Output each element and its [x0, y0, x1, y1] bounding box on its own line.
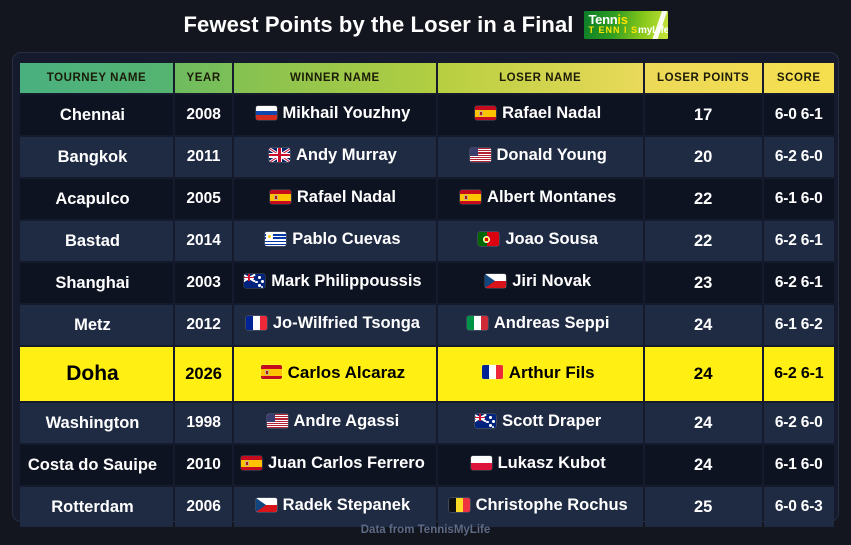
winner-name-wrapper: Mikhail Youzhny	[256, 105, 411, 122]
loser-name-wrapper: Lukasz Kubot	[471, 455, 606, 472]
cell-loser-name: Albert Montanes	[438, 179, 643, 219]
cell-tourney-name: Costa do Sauipe	[20, 445, 173, 485]
cell-score: 6-1 6-2	[764, 305, 834, 345]
flag-icon-cz	[485, 274, 506, 288]
loser-name-wrapper: Donald Young	[470, 147, 607, 164]
cell-tourney-name: Chennai	[20, 95, 173, 135]
table-header: TOURNEY NAME YEAR WINNER NAME LOSER NAME…	[20, 63, 834, 93]
cell-loser-points: 24	[645, 305, 762, 345]
cell-score: 6-2 6-1	[764, 221, 834, 261]
cell-tourney-name: Acapulco	[20, 179, 173, 219]
cell-loser-name: Christophe Rochus	[438, 487, 643, 527]
cell-year: 2012	[175, 305, 232, 345]
flag-icon-es	[475, 106, 496, 120]
loser-name: Donald Young	[497, 147, 607, 164]
cell-loser-points: 23	[645, 263, 762, 303]
cell-score: 6-0 6-1	[764, 95, 834, 135]
loser-name: Rafael Nadal	[502, 105, 601, 122]
cell-year: 2003	[175, 263, 232, 303]
loser-name: Andreas Seppi	[494, 315, 610, 332]
winner-name: Andy Murray	[296, 147, 397, 164]
cell-tourney-name: Bastad	[20, 221, 173, 261]
loser-name-wrapper: Scott Draper	[475, 413, 601, 430]
winner-name: Carlos Alcaraz	[288, 364, 405, 381]
cell-tourney-name: Shanghai	[20, 263, 173, 303]
cell-year: 2005	[175, 179, 232, 219]
cell-tourney-name: Metz	[20, 305, 173, 345]
flag-icon-es	[261, 365, 282, 379]
winner-name-wrapper: Juan Carlos Ferrero	[241, 455, 425, 472]
flag-icon-au	[475, 414, 496, 428]
winner-name: Rafael Nadal	[297, 189, 396, 206]
flag-icon-it	[467, 316, 488, 330]
winner-name: Juan Carlos Ferrero	[268, 455, 425, 472]
column-header-tourney-name: TOURNEY NAME	[20, 63, 173, 93]
cell-year: 2026	[175, 347, 232, 401]
loser-name-wrapper: Albert Montanes	[460, 189, 616, 206]
winner-name: Radek Stepanek	[283, 497, 410, 514]
loser-name-wrapper: Andreas Seppi	[467, 315, 610, 332]
table-row[interactable]: Rotterdam2006Radek StepanekChristophe Ro…	[20, 487, 834, 527]
winner-name-wrapper: Rafael Nadal	[270, 189, 396, 206]
flag-icon-uy	[265, 232, 286, 246]
table-row[interactable]: Washington1998Andre AgassiScott Draper24…	[20, 403, 834, 443]
cell-loser-points: 24	[645, 445, 762, 485]
column-header-score: SCORE	[764, 63, 834, 93]
loser-name: Joao Sousa	[505, 231, 598, 248]
table-row[interactable]: Chennai2008Mikhail YouzhnyRafael Nadal17…	[20, 95, 834, 135]
cell-year: 2008	[175, 95, 232, 135]
table-body: Chennai2008Mikhail YouzhnyRafael Nadal17…	[20, 95, 834, 527]
flag-icon-pt	[478, 232, 499, 246]
cell-score: 6-1 6-0	[764, 179, 834, 219]
cell-tourney-name: Washington	[20, 403, 173, 443]
cell-loser-name: Donald Young	[438, 137, 643, 177]
cell-winner-name: Andre Agassi	[234, 403, 435, 443]
table-row[interactable]: Costa do Sauipe2010Juan Carlos FerreroLu…	[20, 445, 834, 485]
cell-loser-points: 24	[645, 403, 762, 443]
flag-icon-au	[244, 274, 265, 288]
loser-name-wrapper: Joao Sousa	[478, 231, 598, 248]
flag-icon-us	[470, 148, 491, 162]
cell-year: 2011	[175, 137, 232, 177]
cell-loser-points: 24	[645, 347, 762, 401]
loser-name-wrapper: Rafael Nadal	[475, 105, 601, 122]
flag-icon-es	[270, 190, 291, 204]
cell-tourney-name: Rotterdam	[20, 487, 173, 527]
cell-score: 6-1 6-0	[764, 445, 834, 485]
winner-name-wrapper: Carlos Alcaraz	[261, 364, 405, 381]
loser-name: Albert Montanes	[487, 189, 616, 206]
cell-tourney-name: Doha	[20, 347, 173, 401]
flag-icon-ru	[256, 106, 277, 120]
cell-winner-name: Mark Philippoussis	[234, 263, 435, 303]
cell-winner-name: Mikhail Youzhny	[234, 95, 435, 135]
loser-name-wrapper: Jiri Novak	[485, 273, 591, 290]
flag-icon-fr	[482, 365, 503, 379]
cell-loser-name: Lukasz Kubot	[438, 445, 643, 485]
cell-winner-name: Pablo Cuevas	[234, 221, 435, 261]
loser-name: Christophe Rochus	[476, 497, 628, 514]
cell-loser-points: 25	[645, 487, 762, 527]
cell-score: 6-0 6-3	[764, 487, 834, 527]
cell-year: 2010	[175, 445, 232, 485]
winner-name: Mikhail Youzhny	[283, 105, 411, 122]
tennis-my-life-logo: Tennis T ENN I SmyLife	[584, 11, 668, 39]
loser-name: Arthur Fils	[509, 364, 595, 381]
winner-name: Pablo Cuevas	[292, 231, 400, 248]
winner-name-wrapper: Andre Agassi	[267, 413, 400, 430]
cell-loser-points: 17	[645, 95, 762, 135]
column-header-loser-name: LOSER NAME	[438, 63, 643, 93]
table-row[interactable]: Acapulco2005Rafael NadalAlbert Montanes2…	[20, 179, 834, 219]
cell-loser-name: Jiri Novak	[438, 263, 643, 303]
logo-line-2-a: T ENN I S	[589, 25, 639, 35]
winner-name-wrapper: Pablo Cuevas	[265, 231, 400, 248]
infographic-page: Fewest Points by the Loser in a Final Te…	[0, 0, 851, 545]
table-row[interactable]: Bastad2014Pablo CuevasJoao Sousa226-2 6-…	[20, 221, 834, 261]
winner-name-wrapper: Andy Murray	[269, 147, 397, 164]
title-bar: Fewest Points by the Loser in a Final Te…	[0, 0, 851, 46]
loser-name-wrapper: Arthur Fils	[482, 364, 595, 381]
cell-year: 2006	[175, 487, 232, 527]
cell-loser-name: Rafael Nadal	[438, 95, 643, 135]
winner-name-wrapper: Jo-Wilfried Tsonga	[246, 315, 420, 332]
flag-icon-es	[241, 456, 262, 470]
cell-score: 6-2 6-0	[764, 403, 834, 443]
winner-name: Mark Philippoussis	[271, 273, 421, 290]
table-header-row: TOURNEY NAME YEAR WINNER NAME LOSER NAME…	[20, 63, 834, 93]
winner-name: Andre Agassi	[294, 413, 400, 430]
flag-icon-cz	[256, 498, 277, 512]
table-panel: TOURNEY NAME YEAR WINNER NAME LOSER NAME…	[12, 52, 839, 522]
winner-name: Jo-Wilfried Tsonga	[273, 315, 420, 332]
column-header-loser-points: LOSER POINTS	[645, 63, 762, 93]
cell-tourney-name: Bangkok	[20, 137, 173, 177]
cell-loser-points: 20	[645, 137, 762, 177]
cell-winner-name: Juan Carlos Ferrero	[234, 445, 435, 485]
cell-winner-name: Andy Murray	[234, 137, 435, 177]
loser-name-wrapper: Christophe Rochus	[449, 497, 628, 514]
cell-year: 1998	[175, 403, 232, 443]
cell-loser-points: 22	[645, 221, 762, 261]
winner-name-wrapper: Mark Philippoussis	[244, 273, 421, 290]
flag-icon-fr	[246, 316, 267, 330]
cell-score: 6-2 6-1	[764, 263, 834, 303]
loser-name: Jiri Novak	[512, 273, 591, 290]
cell-score: 6-2 6-0	[764, 137, 834, 177]
cell-winner-name: Rafael Nadal	[234, 179, 435, 219]
cell-loser-name: Joao Sousa	[438, 221, 643, 261]
table-row-highlighted[interactable]: Doha2026Carlos AlcarazArthur Fils246-2 6…	[20, 347, 834, 401]
cell-score: 6-2 6-1	[764, 347, 834, 401]
cell-winner-name: Carlos Alcaraz	[234, 347, 435, 401]
flag-icon-be	[449, 498, 470, 512]
cell-loser-name: Andreas Seppi	[438, 305, 643, 345]
cell-loser-points: 22	[645, 179, 762, 219]
flag-icon-pl	[471, 456, 492, 470]
column-header-winner-name: WINNER NAME	[234, 63, 435, 93]
winner-name-wrapper: Radek Stepanek	[256, 497, 410, 514]
footer-credit: Data from TennisMyLife	[0, 524, 851, 536]
flag-icon-us	[267, 414, 288, 428]
table-row[interactable]: Shanghai2003Mark PhilippoussisJiri Novak…	[20, 263, 834, 303]
loser-name: Lukasz Kubot	[498, 455, 606, 472]
table-row[interactable]: Metz2012Jo-Wilfried TsongaAndreas Seppi2…	[20, 305, 834, 345]
cell-loser-name: Scott Draper	[438, 403, 643, 443]
cell-loser-name: Arthur Fils	[438, 347, 643, 401]
cell-winner-name: Jo-Wilfried Tsonga	[234, 305, 435, 345]
flag-icon-gb	[269, 148, 290, 162]
page-title: Fewest Points by the Loser in a Final	[184, 12, 574, 38]
cell-year: 2014	[175, 221, 232, 261]
loser-name: Scott Draper	[502, 413, 601, 430]
cell-winner-name: Radek Stepanek	[234, 487, 435, 527]
flag-icon-es	[460, 190, 481, 204]
records-table: TOURNEY NAME YEAR WINNER NAME LOSER NAME…	[18, 61, 836, 529]
column-header-year: YEAR	[175, 63, 232, 93]
table-row[interactable]: Bangkok2011Andy MurrayDonald Young206-2 …	[20, 137, 834, 177]
